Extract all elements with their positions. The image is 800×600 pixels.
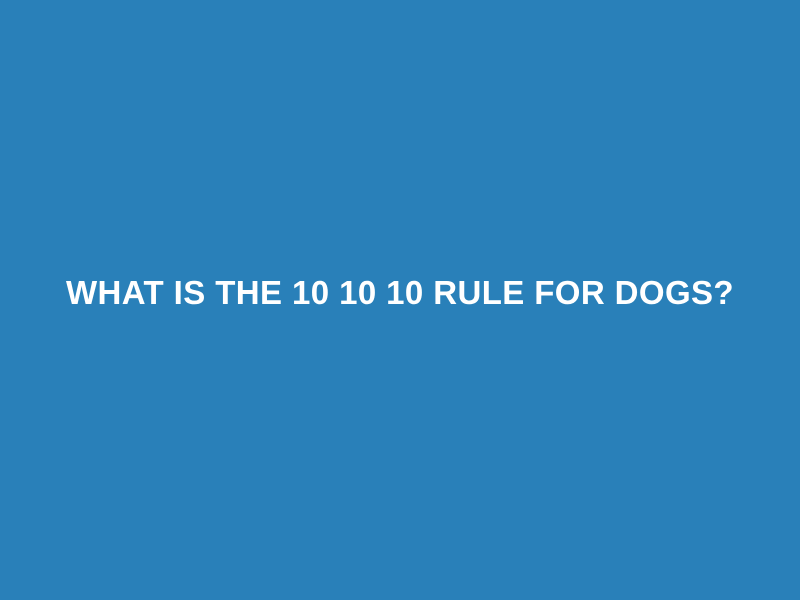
headline-container: WHAT IS THE 10 10 10 RULE FOR DOGS? xyxy=(0,0,800,586)
banner-headline: WHAT IS THE 10 10 10 RULE FOR DOGS? xyxy=(66,274,734,313)
featured-image-banner: WHAT IS THE 10 10 10 RULE FOR DOGS? xyxy=(0,0,800,600)
